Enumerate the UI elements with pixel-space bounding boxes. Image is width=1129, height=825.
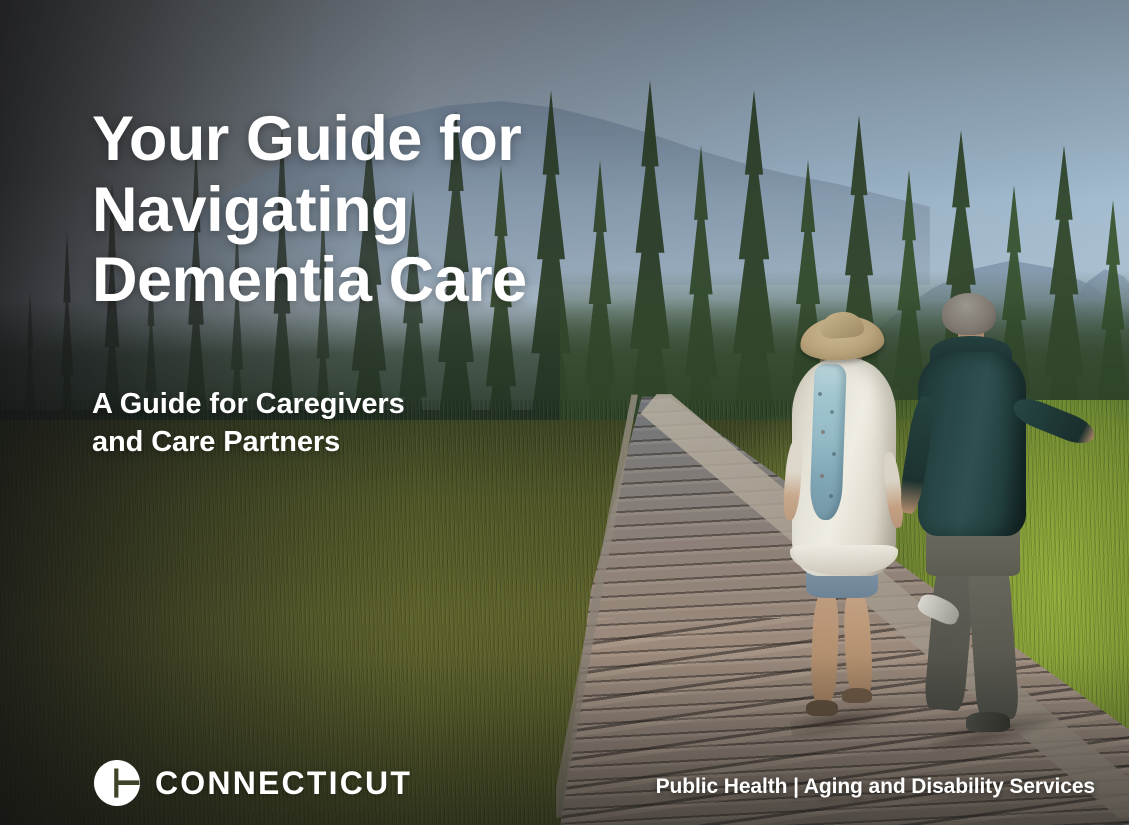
connecticut-state-seal-icon (93, 759, 141, 807)
page-title: Your Guide for Navigating Dementia Care (92, 104, 527, 316)
cover-content: Your Guide for Navigating Dementia Care … (0, 0, 1129, 825)
connecticut-wordmark: CONNECTICUT (155, 767, 412, 799)
department-label: Public Health | Aging and Disability Ser… (656, 776, 1095, 797)
connecticut-brand-lockup: CONNECTICUT (93, 759, 412, 807)
page-subtitle: A Guide for Caregivers and Care Partners (92, 385, 405, 462)
cover-page: Your Guide for Navigating Dementia Care … (0, 0, 1129, 825)
